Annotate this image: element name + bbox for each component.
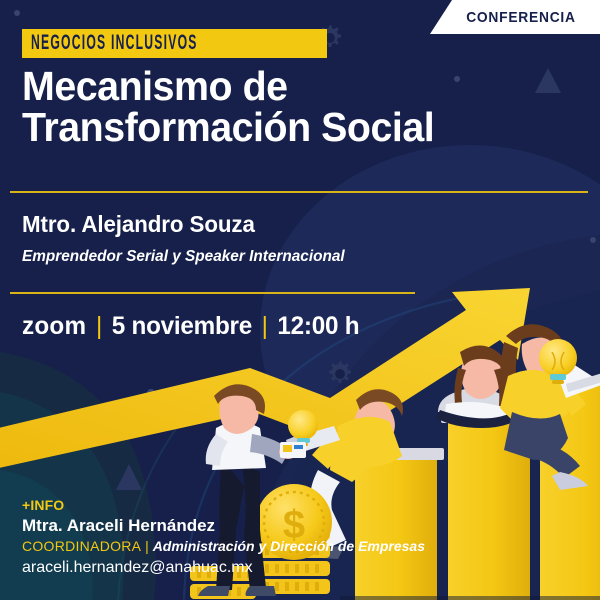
event-date: 5 noviembre — [112, 312, 252, 341]
page-title-line-2: Transformación Social — [22, 107, 540, 148]
divider-top — [10, 191, 588, 193]
speaker-role: Emprendedor Serial y Speaker Internacion… — [22, 248, 345, 266]
contact-department: Administración y Dirección de Empresas — [153, 538, 425, 554]
info-label: +INFO — [22, 497, 425, 515]
contact-name: Mtra. Araceli Hernández — [22, 515, 425, 537]
event-time: 12:00 h — [277, 312, 359, 341]
conference-poster: $ CONFERENCIA NEGOCIOS INCLUSIVOS — [0, 0, 600, 600]
event-separator-1: | — [96, 312, 102, 341]
kicker-label: NEGOCIOS INCLUSIVOS — [31, 31, 198, 55]
contact-department-line: COORDINADORA | Administración y Direcció… — [22, 537, 425, 557]
kicker-banner: NEGOCIOS INCLUSIVOS — [22, 29, 327, 58]
contact-email[interactable]: araceli.hernandez@anahuac.mx — [22, 557, 425, 579]
speaker-name: Mtro. Alejandro Souza — [22, 211, 255, 238]
event-details: zoom | 5 noviembre | 12:00 h — [22, 312, 359, 341]
contact-separator: | — [145, 538, 149, 554]
divider-bottom — [10, 292, 415, 294]
contact-title: COORDINADORA — [22, 538, 141, 554]
page-title-line-1: Mecanismo de — [22, 66, 540, 107]
event-separator-2: | — [262, 312, 268, 341]
zoom-platform-label: zoom — [22, 312, 86, 341]
page-title: Mecanismo de Transformación Social — [22, 66, 540, 147]
contact-block: +INFO Mtra. Araceli Hernández COORDINADO… — [22, 497, 425, 578]
